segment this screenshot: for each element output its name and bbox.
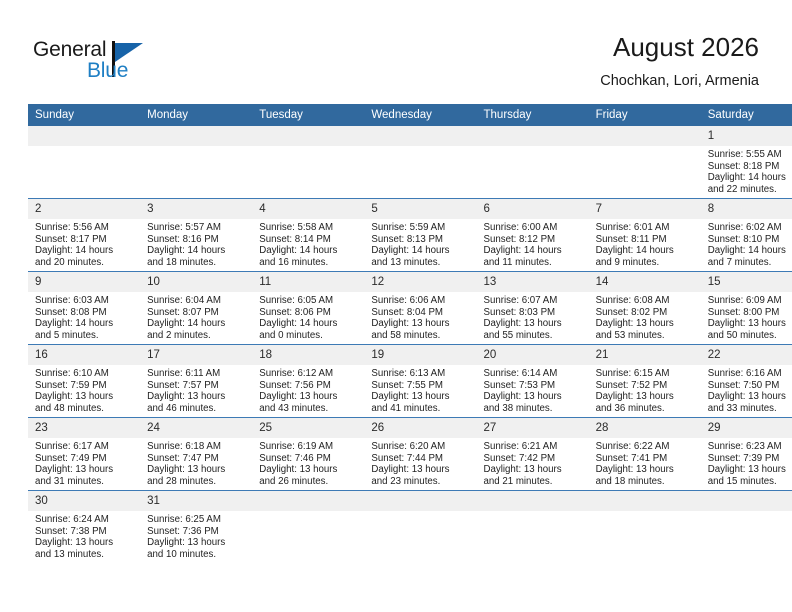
day-details: Sunrise: 6:08 AMSunset: 8:02 PMDaylight:… bbox=[589, 292, 701, 341]
daylight-text-line1: Daylight: 14 hours bbox=[35, 318, 135, 330]
sunset-text: Sunset: 8:00 PM bbox=[708, 307, 792, 319]
daylight-text-line1: Daylight: 13 hours bbox=[371, 391, 471, 403]
daylight-text-line2: and 13 minutes. bbox=[371, 257, 471, 269]
day-number bbox=[252, 126, 364, 146]
calendar-day-cell[interactable]: 15Sunrise: 6:09 AMSunset: 8:00 PMDayligh… bbox=[701, 272, 792, 345]
daylight-text-line1: Daylight: 13 hours bbox=[35, 464, 135, 476]
sunrise-text: Sunrise: 6:24 AM bbox=[35, 514, 135, 526]
sunrise-text: Sunrise: 5:56 AM bbox=[35, 222, 135, 234]
calendar-cell-empty bbox=[252, 491, 364, 564]
sunrise-text: Sunrise: 6:01 AM bbox=[596, 222, 696, 234]
sunrise-text: Sunrise: 5:59 AM bbox=[371, 222, 471, 234]
day-number: 11 bbox=[252, 272, 364, 292]
sunrise-text: Sunrise: 6:17 AM bbox=[35, 441, 135, 453]
day-number: 10 bbox=[140, 272, 252, 292]
day-number: 17 bbox=[140, 345, 252, 365]
sunrise-text: Sunrise: 6:07 AM bbox=[484, 295, 584, 307]
sunset-text: Sunset: 7:38 PM bbox=[35, 526, 135, 538]
calendar-cell-empty bbox=[477, 126, 589, 199]
brand-logo[interactable]: General Blue bbox=[33, 38, 233, 88]
day-details: Sunrise: 6:21 AMSunset: 7:42 PMDaylight:… bbox=[477, 438, 589, 487]
calendar-day-cell[interactable]: 22Sunrise: 6:16 AMSunset: 7:50 PMDayligh… bbox=[701, 345, 792, 418]
daylight-text-line2: and 50 minutes. bbox=[708, 330, 792, 342]
sunrise-text: Sunrise: 6:16 AM bbox=[708, 368, 792, 380]
sunset-text: Sunset: 7:39 PM bbox=[708, 453, 792, 465]
day-number bbox=[477, 491, 589, 511]
daylight-text-line1: Daylight: 13 hours bbox=[708, 391, 792, 403]
day-number: 9 bbox=[28, 272, 140, 292]
day-number: 24 bbox=[140, 418, 252, 438]
daylight-text-line2: and 2 minutes. bbox=[147, 330, 247, 342]
sunset-text: Sunset: 8:07 PM bbox=[147, 307, 247, 319]
sunset-text: Sunset: 7:53 PM bbox=[484, 380, 584, 392]
daylight-text-line2: and 31 minutes. bbox=[35, 476, 135, 488]
sunrise-text: Sunrise: 6:23 AM bbox=[708, 441, 792, 453]
day-number bbox=[701, 491, 792, 511]
day-details: Sunrise: 6:25 AMSunset: 7:36 PMDaylight:… bbox=[140, 511, 252, 560]
calendar-cell-empty bbox=[477, 491, 589, 564]
day-number: 7 bbox=[589, 199, 701, 219]
calendar-day-cell[interactable]: 9Sunrise: 6:03 AMSunset: 8:08 PMDaylight… bbox=[28, 272, 140, 345]
daylight-text-line2: and 55 minutes. bbox=[484, 330, 584, 342]
day-details: Sunrise: 6:09 AMSunset: 8:00 PMDaylight:… bbox=[701, 292, 792, 341]
calendar-page: General Blue August 2026 Chochkan, Lori,… bbox=[0, 0, 792, 612]
daylight-text-line2: and 48 minutes. bbox=[35, 403, 135, 415]
day-details: Sunrise: 6:17 AMSunset: 7:49 PMDaylight:… bbox=[28, 438, 140, 487]
daylight-text-line1: Daylight: 14 hours bbox=[35, 245, 135, 257]
day-details: Sunrise: 5:56 AMSunset: 8:17 PMDaylight:… bbox=[28, 219, 140, 268]
day-number: 21 bbox=[589, 345, 701, 365]
daylight-text-line2: and 16 minutes. bbox=[259, 257, 359, 269]
calendar-table: Sunday Monday Tuesday Wednesday Thursday… bbox=[28, 104, 792, 563]
daylight-text-line2: and 41 minutes. bbox=[371, 403, 471, 415]
calendar-day-cell[interactable]: 5Sunrise: 5:59 AMSunset: 8:13 PMDaylight… bbox=[364, 199, 476, 272]
calendar-day-cell[interactable]: 11Sunrise: 6:05 AMSunset: 8:06 PMDayligh… bbox=[252, 272, 364, 345]
daylight-text-line1: Daylight: 13 hours bbox=[596, 464, 696, 476]
daylight-text-line1: Daylight: 13 hours bbox=[259, 391, 359, 403]
calendar-cell-empty bbox=[28, 126, 140, 199]
sunset-text: Sunset: 7:50 PM bbox=[708, 380, 792, 392]
page-header: General Blue August 2026 Chochkan, Lori,… bbox=[0, 0, 792, 104]
daylight-text-line1: Daylight: 14 hours bbox=[484, 245, 584, 257]
daylight-text-line1: Daylight: 14 hours bbox=[708, 172, 792, 184]
calendar-day-cell[interactable]: 28Sunrise: 6:22 AMSunset: 7:41 PMDayligh… bbox=[589, 418, 701, 491]
calendar-header-row: Sunday Monday Tuesday Wednesday Thursday… bbox=[28, 104, 792, 126]
page-title: August 2026 bbox=[600, 32, 759, 62]
daylight-text-line1: Daylight: 14 hours bbox=[147, 245, 247, 257]
calendar-day-cell[interactable]: 18Sunrise: 6:12 AMSunset: 7:56 PMDayligh… bbox=[252, 345, 364, 418]
day-details: Sunrise: 6:10 AMSunset: 7:59 PMDaylight:… bbox=[28, 365, 140, 414]
sunset-text: Sunset: 8:02 PM bbox=[596, 307, 696, 319]
daylight-text-line2: and 7 minutes. bbox=[708, 257, 792, 269]
day-number: 15 bbox=[701, 272, 792, 292]
daylight-text-line2: and 58 minutes. bbox=[371, 330, 471, 342]
daylight-text-line2: and 18 minutes. bbox=[147, 257, 247, 269]
sunset-text: Sunset: 7:44 PM bbox=[371, 453, 471, 465]
day-details: Sunrise: 6:20 AMSunset: 7:44 PMDaylight:… bbox=[364, 438, 476, 487]
sunrise-text: Sunrise: 5:58 AM bbox=[259, 222, 359, 234]
sunrise-text: Sunrise: 6:11 AM bbox=[147, 368, 247, 380]
day-number: 16 bbox=[28, 345, 140, 365]
sunset-text: Sunset: 7:41 PM bbox=[596, 453, 696, 465]
day-number: 8 bbox=[701, 199, 792, 219]
sunrise-text: Sunrise: 6:09 AM bbox=[708, 295, 792, 307]
calendar-day-cell[interactable]: 31Sunrise: 6:25 AMSunset: 7:36 PMDayligh… bbox=[140, 491, 252, 564]
sunrise-text: Sunrise: 6:20 AM bbox=[371, 441, 471, 453]
sunset-text: Sunset: 8:03 PM bbox=[484, 307, 584, 319]
calendar-cell-empty bbox=[140, 126, 252, 199]
day-number: 6 bbox=[477, 199, 589, 219]
daylight-text-line2: and 53 minutes. bbox=[596, 330, 696, 342]
daylight-text-line2: and 46 minutes. bbox=[147, 403, 247, 415]
daylight-text-line2: and 5 minutes. bbox=[35, 330, 135, 342]
sunset-text: Sunset: 8:18 PM bbox=[708, 161, 792, 173]
weekday-header-monday: Monday bbox=[140, 104, 252, 126]
calendar-day-cell[interactable]: 1Sunrise: 5:55 AMSunset: 8:18 PMDaylight… bbox=[701, 126, 792, 199]
sunrise-text: Sunrise: 6:06 AM bbox=[371, 295, 471, 307]
sunrise-text: Sunrise: 6:18 AM bbox=[147, 441, 247, 453]
day-details: Sunrise: 6:18 AMSunset: 7:47 PMDaylight:… bbox=[140, 438, 252, 487]
day-details: Sunrise: 6:23 AMSunset: 7:39 PMDaylight:… bbox=[701, 438, 792, 487]
sunrise-text: Sunrise: 6:08 AM bbox=[596, 295, 696, 307]
day-number: 1 bbox=[701, 126, 792, 146]
calendar-day-cell[interactable]: 3Sunrise: 5:57 AMSunset: 8:16 PMDaylight… bbox=[140, 199, 252, 272]
calendar-cell-empty bbox=[252, 126, 364, 199]
day-details: Sunrise: 6:12 AMSunset: 7:56 PMDaylight:… bbox=[252, 365, 364, 414]
daylight-text-line2: and 11 minutes. bbox=[484, 257, 584, 269]
calendar-day-cell[interactable]: 6Sunrise: 6:00 AMSunset: 8:12 PMDaylight… bbox=[477, 199, 589, 272]
calendar-day-cell[interactable]: 8Sunrise: 6:02 AMSunset: 8:10 PMDaylight… bbox=[701, 199, 792, 272]
sunrise-text: Sunrise: 5:57 AM bbox=[147, 222, 247, 234]
daylight-text-line1: Daylight: 14 hours bbox=[147, 318, 247, 330]
day-number: 25 bbox=[252, 418, 364, 438]
daylight-text-line2: and 21 minutes. bbox=[484, 476, 584, 488]
daylight-text-line2: and 15 minutes. bbox=[708, 476, 792, 488]
sunset-text: Sunset: 7:52 PM bbox=[596, 380, 696, 392]
calendar-day-cell[interactable]: 23Sunrise: 6:17 AMSunset: 7:49 PMDayligh… bbox=[28, 418, 140, 491]
sunrise-text: Sunrise: 6:15 AM bbox=[596, 368, 696, 380]
calendar-cell-empty bbox=[364, 126, 476, 199]
calendar-day-cell[interactable]: 2Sunrise: 5:56 AMSunset: 8:17 PMDaylight… bbox=[28, 199, 140, 272]
calendar-week-row: 16Sunrise: 6:10 AMSunset: 7:59 PMDayligh… bbox=[28, 345, 792, 418]
calendar-day-cell[interactable]: 25Sunrise: 6:19 AMSunset: 7:46 PMDayligh… bbox=[252, 418, 364, 491]
day-details: Sunrise: 6:05 AMSunset: 8:06 PMDaylight:… bbox=[252, 292, 364, 341]
daylight-text-line1: Daylight: 13 hours bbox=[484, 318, 584, 330]
daylight-text-line2: and 10 minutes. bbox=[147, 549, 247, 561]
daylight-text-line2: and 23 minutes. bbox=[371, 476, 471, 488]
daylight-text-line2: and 43 minutes. bbox=[259, 403, 359, 415]
calendar-day-cell[interactable]: 7Sunrise: 6:01 AMSunset: 8:11 PMDaylight… bbox=[589, 199, 701, 272]
day-details: Sunrise: 6:13 AMSunset: 7:55 PMDaylight:… bbox=[364, 365, 476, 414]
daylight-text-line1: Daylight: 13 hours bbox=[259, 464, 359, 476]
daylight-text-line1: Daylight: 14 hours bbox=[596, 245, 696, 257]
sunset-text: Sunset: 8:10 PM bbox=[708, 234, 792, 246]
sunset-text: Sunset: 8:08 PM bbox=[35, 307, 135, 319]
daylight-text-line2: and 36 minutes. bbox=[596, 403, 696, 415]
day-details: Sunrise: 6:19 AMSunset: 7:46 PMDaylight:… bbox=[252, 438, 364, 487]
day-number: 31 bbox=[140, 491, 252, 511]
day-details: Sunrise: 6:00 AMSunset: 8:12 PMDaylight:… bbox=[477, 219, 589, 268]
daylight-text-line1: Daylight: 13 hours bbox=[596, 318, 696, 330]
daylight-text-line2: and 9 minutes. bbox=[596, 257, 696, 269]
day-number: 13 bbox=[477, 272, 589, 292]
daylight-text-line1: Daylight: 14 hours bbox=[259, 318, 359, 330]
weekday-header-thursday: Thursday bbox=[477, 104, 589, 126]
day-number: 29 bbox=[701, 418, 792, 438]
day-details: Sunrise: 6:11 AMSunset: 7:57 PMDaylight:… bbox=[140, 365, 252, 414]
daylight-text-line1: Daylight: 13 hours bbox=[147, 537, 247, 549]
weekday-header-sunday: Sunday bbox=[28, 104, 140, 126]
daylight-text-line1: Daylight: 13 hours bbox=[484, 391, 584, 403]
sunset-text: Sunset: 7:56 PM bbox=[259, 380, 359, 392]
day-number: 30 bbox=[28, 491, 140, 511]
sunset-text: Sunset: 7:57 PM bbox=[147, 380, 247, 392]
sunset-text: Sunset: 8:16 PM bbox=[147, 234, 247, 246]
calendar-day-cell[interactable]: 21Sunrise: 6:15 AMSunset: 7:52 PMDayligh… bbox=[589, 345, 701, 418]
day-details: Sunrise: 6:07 AMSunset: 8:03 PMDaylight:… bbox=[477, 292, 589, 341]
calendar-body: 1Sunrise: 5:55 AMSunset: 8:18 PMDaylight… bbox=[28, 126, 792, 563]
daylight-text-line1: Daylight: 13 hours bbox=[708, 318, 792, 330]
calendar-day-cell[interactable]: 13Sunrise: 6:07 AMSunset: 8:03 PMDayligh… bbox=[477, 272, 589, 345]
calendar-day-cell[interactable]: 4Sunrise: 5:58 AMSunset: 8:14 PMDaylight… bbox=[252, 199, 364, 272]
sunrise-text: Sunrise: 6:19 AM bbox=[259, 441, 359, 453]
calendar-cell-empty bbox=[364, 491, 476, 564]
calendar-day-cell[interactable]: 10Sunrise: 6:04 AMSunset: 8:07 PMDayligh… bbox=[140, 272, 252, 345]
day-number: 19 bbox=[364, 345, 476, 365]
sunset-text: Sunset: 8:04 PM bbox=[371, 307, 471, 319]
day-details: Sunrise: 6:22 AMSunset: 7:41 PMDaylight:… bbox=[589, 438, 701, 487]
sunrise-text: Sunrise: 6:04 AM bbox=[147, 295, 247, 307]
day-number: 27 bbox=[477, 418, 589, 438]
day-details: Sunrise: 6:01 AMSunset: 8:11 PMDaylight:… bbox=[589, 219, 701, 268]
day-number: 3 bbox=[140, 199, 252, 219]
sunset-text: Sunset: 8:13 PM bbox=[371, 234, 471, 246]
daylight-text-line1: Daylight: 14 hours bbox=[708, 245, 792, 257]
sunset-text: Sunset: 7:46 PM bbox=[259, 453, 359, 465]
sunrise-text: Sunrise: 6:22 AM bbox=[596, 441, 696, 453]
daylight-text-line2: and 0 minutes. bbox=[259, 330, 359, 342]
sunset-text: Sunset: 7:49 PM bbox=[35, 453, 135, 465]
day-number: 2 bbox=[28, 199, 140, 219]
daylight-text-line2: and 20 minutes. bbox=[35, 257, 135, 269]
day-number bbox=[589, 126, 701, 146]
day-details: Sunrise: 6:15 AMSunset: 7:52 PMDaylight:… bbox=[589, 365, 701, 414]
calendar-day-cell[interactable]: 14Sunrise: 6:08 AMSunset: 8:02 PMDayligh… bbox=[589, 272, 701, 345]
day-number: 5 bbox=[364, 199, 476, 219]
calendar-day-cell[interactable]: 24Sunrise: 6:18 AMSunset: 7:47 PMDayligh… bbox=[140, 418, 252, 491]
day-number: 22 bbox=[701, 345, 792, 365]
daylight-text-line2: and 13 minutes. bbox=[35, 549, 135, 561]
day-number: 4 bbox=[252, 199, 364, 219]
weekday-header-row: Sunday Monday Tuesday Wednesday Thursday… bbox=[28, 104, 792, 126]
day-details: Sunrise: 6:04 AMSunset: 8:07 PMDaylight:… bbox=[140, 292, 252, 341]
day-details: Sunrise: 6:03 AMSunset: 8:08 PMDaylight:… bbox=[28, 292, 140, 341]
daylight-text-line1: Daylight: 13 hours bbox=[147, 464, 247, 476]
sunrise-text: Sunrise: 6:02 AM bbox=[708, 222, 792, 234]
calendar-week-row: 9Sunrise: 6:03 AMSunset: 8:08 PMDaylight… bbox=[28, 272, 792, 345]
day-details: Sunrise: 5:59 AMSunset: 8:13 PMDaylight:… bbox=[364, 219, 476, 268]
day-details: Sunrise: 5:58 AMSunset: 8:14 PMDaylight:… bbox=[252, 219, 364, 268]
sunrise-text: Sunrise: 6:25 AM bbox=[147, 514, 247, 526]
day-number bbox=[589, 491, 701, 511]
day-details: Sunrise: 6:24 AMSunset: 7:38 PMDaylight:… bbox=[28, 511, 140, 560]
daylight-text-line2: and 22 minutes. bbox=[708, 184, 792, 196]
daylight-text-line1: Daylight: 13 hours bbox=[708, 464, 792, 476]
sunset-text: Sunset: 7:55 PM bbox=[371, 380, 471, 392]
calendar-container: Sunday Monday Tuesday Wednesday Thursday… bbox=[28, 104, 764, 563]
daylight-text-line1: Daylight: 13 hours bbox=[484, 464, 584, 476]
daylight-text-line1: Daylight: 14 hours bbox=[259, 245, 359, 257]
sunrise-text: Sunrise: 6:12 AM bbox=[259, 368, 359, 380]
calendar-week-row: 30Sunrise: 6:24 AMSunset: 7:38 PMDayligh… bbox=[28, 491, 792, 564]
day-number bbox=[364, 126, 476, 146]
sunset-text: Sunset: 7:47 PM bbox=[147, 453, 247, 465]
sunrise-text: Sunrise: 6:21 AM bbox=[484, 441, 584, 453]
calendar-cell-empty bbox=[701, 491, 792, 564]
day-number bbox=[140, 126, 252, 146]
sunrise-text: Sunrise: 6:03 AM bbox=[35, 295, 135, 307]
daylight-text-line1: Daylight: 13 hours bbox=[371, 318, 471, 330]
calendar-day-cell[interactable]: 27Sunrise: 6:21 AMSunset: 7:42 PMDayligh… bbox=[477, 418, 589, 491]
day-number bbox=[364, 491, 476, 511]
sunset-text: Sunset: 8:06 PM bbox=[259, 307, 359, 319]
day-details: Sunrise: 6:06 AMSunset: 8:04 PMDaylight:… bbox=[364, 292, 476, 341]
daylight-text-line2: and 26 minutes. bbox=[259, 476, 359, 488]
title-block: August 2026 Chochkan, Lori, Armenia bbox=[600, 32, 759, 91]
sunset-text: Sunset: 7:42 PM bbox=[484, 453, 584, 465]
day-number: 23 bbox=[28, 418, 140, 438]
daylight-text-line2: and 33 minutes. bbox=[708, 403, 792, 415]
day-number: 20 bbox=[477, 345, 589, 365]
daylight-text-line1: Daylight: 13 hours bbox=[147, 391, 247, 403]
weekday-header-wednesday: Wednesday bbox=[364, 104, 476, 126]
day-number: 28 bbox=[589, 418, 701, 438]
calendar-day-cell[interactable]: 19Sunrise: 6:13 AMSunset: 7:55 PMDayligh… bbox=[364, 345, 476, 418]
calendar-day-cell[interactable]: 16Sunrise: 6:10 AMSunset: 7:59 PMDayligh… bbox=[28, 345, 140, 418]
daylight-text-line2: and 18 minutes. bbox=[596, 476, 696, 488]
sunrise-text: Sunrise: 6:13 AM bbox=[371, 368, 471, 380]
calendar-day-cell[interactable]: 29Sunrise: 6:23 AMSunset: 7:39 PMDayligh… bbox=[701, 418, 792, 491]
sunrise-text: Sunrise: 6:14 AM bbox=[484, 368, 584, 380]
daylight-text-line1: Daylight: 14 hours bbox=[371, 245, 471, 257]
day-number: 12 bbox=[364, 272, 476, 292]
brand-name-blue: Blue bbox=[87, 59, 128, 83]
calendar-day-cell[interactable]: 17Sunrise: 6:11 AMSunset: 7:57 PMDayligh… bbox=[140, 345, 252, 418]
day-number bbox=[477, 126, 589, 146]
daylight-text-line1: Daylight: 13 hours bbox=[35, 537, 135, 549]
weekday-header-saturday: Saturday bbox=[701, 104, 792, 126]
daylight-text-line2: and 38 minutes. bbox=[484, 403, 584, 415]
calendar-week-row: 1Sunrise: 5:55 AMSunset: 8:18 PMDaylight… bbox=[28, 126, 792, 199]
sunset-text: Sunset: 7:59 PM bbox=[35, 380, 135, 392]
calendar-day-cell[interactable]: 30Sunrise: 6:24 AMSunset: 7:38 PMDayligh… bbox=[28, 491, 140, 564]
daylight-text-line1: Daylight: 13 hours bbox=[596, 391, 696, 403]
weekday-header-tuesday: Tuesday bbox=[252, 104, 364, 126]
daylight-text-line2: and 28 minutes. bbox=[147, 476, 247, 488]
calendar-week-row: 2Sunrise: 5:56 AMSunset: 8:17 PMDaylight… bbox=[28, 199, 792, 272]
day-details: Sunrise: 6:16 AMSunset: 7:50 PMDaylight:… bbox=[701, 365, 792, 414]
day-number bbox=[252, 491, 364, 511]
calendar-day-cell[interactable]: 20Sunrise: 6:14 AMSunset: 7:53 PMDayligh… bbox=[477, 345, 589, 418]
calendar-week-row: 23Sunrise: 6:17 AMSunset: 7:49 PMDayligh… bbox=[28, 418, 792, 491]
sunset-text: Sunset: 8:14 PM bbox=[259, 234, 359, 246]
day-details: Sunrise: 5:55 AMSunset: 8:18 PMDaylight:… bbox=[701, 146, 792, 195]
day-number: 14 bbox=[589, 272, 701, 292]
sunset-text: Sunset: 8:12 PM bbox=[484, 234, 584, 246]
sunrise-text: Sunrise: 6:00 AM bbox=[484, 222, 584, 234]
sunrise-text: Sunrise: 6:10 AM bbox=[35, 368, 135, 380]
daylight-text-line1: Daylight: 13 hours bbox=[35, 391, 135, 403]
day-number bbox=[28, 126, 140, 146]
day-details: Sunrise: 6:14 AMSunset: 7:53 PMDaylight:… bbox=[477, 365, 589, 414]
sunset-text: Sunset: 7:36 PM bbox=[147, 526, 247, 538]
sunset-text: Sunset: 8:17 PM bbox=[35, 234, 135, 246]
day-number: 18 bbox=[252, 345, 364, 365]
weekday-header-friday: Friday bbox=[589, 104, 701, 126]
calendar-day-cell[interactable]: 12Sunrise: 6:06 AMSunset: 8:04 PMDayligh… bbox=[364, 272, 476, 345]
calendar-cell-empty bbox=[589, 491, 701, 564]
page-subtitle: Chochkan, Lori, Armenia bbox=[600, 71, 759, 91]
day-details: Sunrise: 6:02 AMSunset: 8:10 PMDaylight:… bbox=[701, 219, 792, 268]
day-number: 26 bbox=[364, 418, 476, 438]
sunset-text: Sunset: 8:11 PM bbox=[596, 234, 696, 246]
daylight-text-line1: Daylight: 13 hours bbox=[371, 464, 471, 476]
sunrise-text: Sunrise: 6:05 AM bbox=[259, 295, 359, 307]
calendar-day-cell[interactable]: 26Sunrise: 6:20 AMSunset: 7:44 PMDayligh… bbox=[364, 418, 476, 491]
day-details: Sunrise: 5:57 AMSunset: 8:16 PMDaylight:… bbox=[140, 219, 252, 268]
calendar-cell-empty bbox=[589, 126, 701, 199]
sunrise-text: Sunrise: 5:55 AM bbox=[708, 149, 792, 161]
